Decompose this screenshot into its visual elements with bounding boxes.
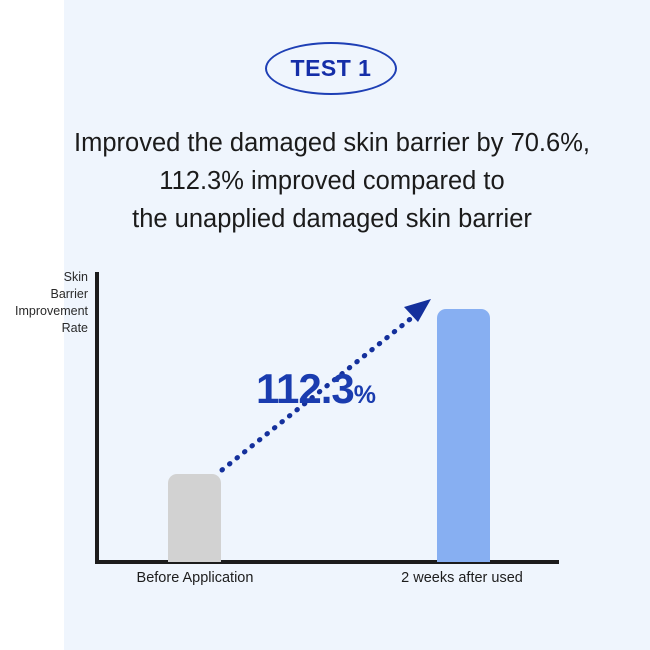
improvement-callout: 112.3%	[256, 365, 376, 413]
x-tick-label-two-weeks-after-used: 2 weeks after used	[345, 570, 579, 586]
y-axis-line	[95, 272, 99, 564]
y-axis-label-line-3: Improvement	[0, 303, 88, 320]
y-axis-label: Skin Barrier Improvement Rate	[0, 269, 88, 337]
y-axis-label-line-4: Rate	[0, 320, 88, 337]
infographic-canvas: TEST 1 Improved the damaged skin barrier…	[0, 0, 650, 650]
y-axis-label-line-2: Barrier	[0, 286, 88, 303]
bar-before-application	[168, 474, 221, 562]
x-tick-label-before-application: Before Application	[74, 570, 316, 586]
bar-two-weeks-after-used	[437, 309, 490, 562]
y-axis-label-line-1: Skin	[0, 269, 88, 286]
bar-chart: Skin Barrier Improvement Rate Before App…	[0, 0, 650, 650]
callout-unit: %	[354, 381, 376, 409]
callout-value: 112.3	[256, 365, 354, 412]
arrow-head-icon	[404, 299, 431, 322]
